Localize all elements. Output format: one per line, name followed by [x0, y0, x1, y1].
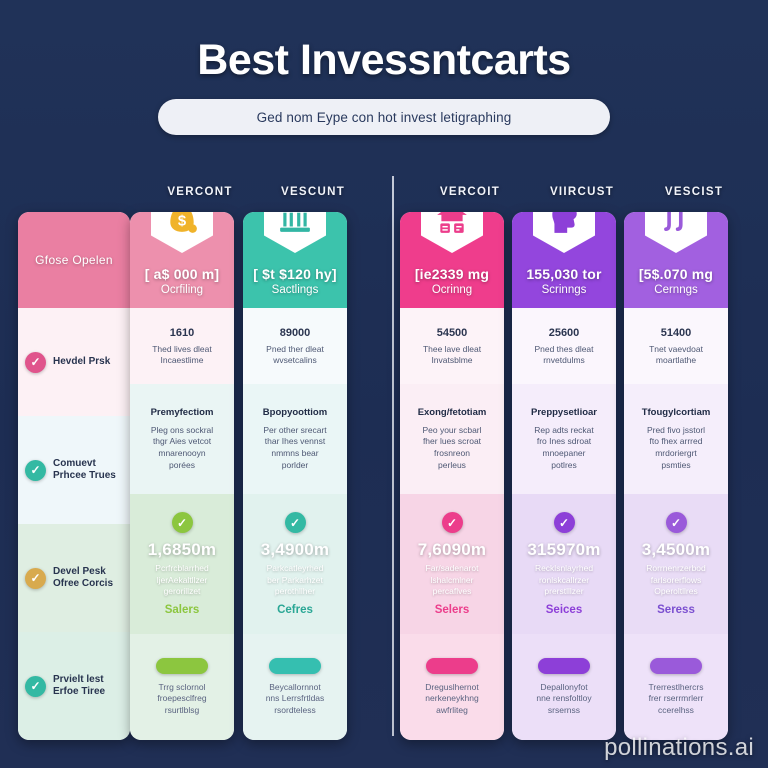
price-subtitle: Ocrfiling [161, 284, 203, 296]
price-subtitle: Sactlings [272, 284, 319, 296]
metric-desc: Pned thes dleatrnvetdulms [534, 344, 593, 366]
double-curve-icon [645, 212, 707, 253]
feature-band: Bpopyoottiom Per other srecartthar Ihes … [243, 384, 347, 494]
label-row-text: Comuevt Prhcee Trues [53, 458, 123, 482]
label-column: Gfose Opelen ✓ Hevdel Prsk ✓ Comuevt Prh… [18, 212, 130, 740]
label-row-4[interactable]: ✓ Prvielt lest Erfoe Tiree [18, 632, 130, 740]
feature-title: Exong/fetotiam [418, 407, 487, 418]
label-row-text: Prvielt lest Erfoe Tiree [53, 674, 123, 698]
metric-desc: Tnet vaevdoatmoartlathe [649, 344, 703, 366]
metric-value: 25600 [549, 327, 580, 339]
action-desc: Dreguslhernotnerkeneykhngawfrliteg [425, 682, 478, 716]
action-desc: Depallonyfotnne rensfoltloysrsernss [536, 682, 591, 716]
returns-desc: RorrnenrzerbodfarlsorerflowsOperoltllres [646, 563, 706, 597]
action-button[interactable] [426, 658, 478, 674]
feature-title: Premyfectiom [151, 407, 214, 418]
column-header-5: VESCIST [642, 186, 746, 198]
returns-band: ✓ 3,4500m RorrnenrzerbodfarlsorerflowsOp… [624, 494, 728, 634]
action-button[interactable] [156, 658, 208, 674]
column-header-4: VIIRCUST [530, 186, 634, 198]
price-subtitle: Scrinngs [542, 284, 587, 296]
price-band: 155,030 tor Scrinngs [512, 212, 616, 308]
returns-band: ✓ 315970m Recklsnlayrhedronlskcallrzerpr… [512, 494, 616, 634]
returns-value: 7,6090m [418, 540, 487, 560]
check-icon: ✓ [25, 568, 46, 589]
returns-value: 1,6850m [148, 540, 217, 560]
check-icon: ✓ [442, 512, 463, 533]
returns-desc: Recklsnlayrhedronlskcallrzerprerstlllzer [535, 563, 593, 597]
feature-title: Bpopyoottiom [263, 407, 327, 418]
label-row-3[interactable]: ✓ Devel Pesk Ofree Corcis [18, 524, 130, 632]
label-row-text: Hevdel Prsk [53, 356, 110, 368]
metric-desc: Thed lives dleatIncaestlime [152, 344, 212, 366]
feature-title: Preppysetlioar [531, 407, 597, 418]
plan-card-2[interactable]: [ $t $120 hy] Sactlings 89000 Pned ther … [243, 212, 347, 740]
action-band: Depallonyfotnne rensfoltloysrsernss [512, 634, 616, 740]
metric-desc: Thee lave dleatInvatsblme [423, 344, 481, 366]
feature-desc: Per other srecartthar Ihes vennstnmmns b… [263, 425, 326, 472]
price-band: $ [ a$ 000 m] Ocrfiling [130, 212, 234, 308]
check-icon: ✓ [285, 512, 306, 533]
returns-band: ✓ 3,4900m Parkcatleyrhedber Parkarhzetpe… [243, 494, 347, 634]
check-icon: ✓ [25, 676, 46, 697]
price-amount: [ a$ 000 m] [145, 266, 220, 282]
metric-desc: Pned ther dleatwvsetcalins [266, 344, 324, 366]
returns-band: ✓ 7,6090m Far/sadenarotlshalcmlnerpercaf… [400, 494, 504, 634]
action-desc: Beycallornnotnns Lerrsfrtldasrsordteless [266, 682, 325, 716]
house-icon [421, 212, 483, 253]
money-bag-icon: $ [151, 212, 213, 253]
feature-desc: Peo your scbarlfher lues scroatfrosnreon… [422, 425, 481, 472]
returns-desc: Parkcatleyrhedber Parkarhzetperothllher [267, 563, 324, 597]
action-desc: Trerrestlhercrsfrer rserrmrlerrccerelhss [649, 682, 704, 716]
price-band: [ $t $120 hy] Sactlings [243, 212, 347, 308]
comparison-grid: Gfose Opelen ✓ Hevdel Prsk ✓ Comuevt Prh… [18, 212, 750, 740]
returns-value: 315970m [527, 540, 600, 560]
metric-value: 51400 [661, 327, 692, 339]
feature-desc: Rep adts reckatfro Ines sdroatmnoepanerp… [534, 425, 594, 472]
plan-card-4[interactable]: 155,030 tor Scrinngs 25600 Pned thes dle… [512, 212, 616, 740]
head-profile-icon [533, 212, 595, 253]
subtitle-text: Ged nom Eype con hot invest letigraphing [257, 110, 512, 125]
metric-value: 54500 [437, 327, 468, 339]
price-amount: 155,030 tor [526, 266, 601, 282]
returns-tag: Salers [165, 604, 200, 616]
price-amount: [ie2339 mg [415, 266, 489, 282]
feature-band: Exong/fetotiam Peo your scbarlfher lues … [400, 384, 504, 494]
label-row-1[interactable]: ✓ Hevdel Prsk [18, 308, 130, 416]
feature-desc: Pleg ons sockralthgr Aies vetcotmnarenoo… [151, 425, 213, 472]
label-column-header: Gfose Opelen [18, 212, 130, 308]
returns-desc: PcrfrcblarrhedljerAekaltllzergerorillzet [155, 563, 208, 597]
action-band: Dreguslhernotnerkeneykhngawfrliteg [400, 634, 504, 740]
check-icon: ✓ [25, 352, 46, 373]
returns-tag: Selers [435, 604, 470, 616]
returns-value: 3,4500m [642, 540, 711, 560]
column-header-row: VERCONTVESCUNTVERCOITVIIRCUSTVESCIST [148, 186, 750, 206]
metric-value: 89000 [280, 327, 311, 339]
feature-band: Preppysetlioar Rep adts reckatfro Ines s… [512, 384, 616, 494]
returns-desc: Far/sadenarotlshalcmlnerpercaflves [426, 563, 479, 597]
column-header-2: VESCUNT [261, 186, 365, 198]
price-subtitle: Cernngs [654, 284, 697, 296]
price-band: [ie2339 mg Ocrinng [400, 212, 504, 308]
feature-band: Tfougylcortiam Pred fivo jsstorlfto fhex… [624, 384, 728, 494]
subtitle-pill: Ged nom Eype con hot invest letigraphing [158, 99, 610, 135]
infographic-page: Best Invessntcarts Ged nom Eype con hot … [0, 0, 768, 768]
metric-band: 25600 Pned thes dleatrnvetdulms [512, 308, 616, 384]
metric-band: 1610 Thed lives dleatIncaestlime [130, 308, 234, 384]
price-amount: [5$.070 mg [639, 266, 713, 282]
action-button[interactable] [650, 658, 702, 674]
metric-band: 54500 Thee lave dleatInvatsblme [400, 308, 504, 384]
feature-title: Tfougylcortiam [642, 407, 711, 418]
bank-icon [264, 212, 326, 253]
metric-value: 1610 [170, 327, 194, 339]
svg-text:$: $ [178, 213, 187, 229]
column-header-1: VERCONT [148, 186, 252, 198]
returns-band: ✓ 1,6850m PcrfrcblarrhedljerAekaltllzerg… [130, 494, 234, 634]
label-row-text: Devel Pesk Ofree Corcis [53, 566, 123, 590]
header: Best Invessntcarts Ged nom Eype con hot … [0, 36, 768, 135]
check-icon: ✓ [25, 460, 46, 481]
plan-card-5[interactable]: [5$.070 mg Cernngs 51400 Tnet vaevdoatmo… [624, 212, 728, 740]
label-row-2[interactable]: ✓ Comuevt Prhcee Trues [18, 416, 130, 524]
plan-card-1[interactable]: $ [ a$ 000 m] Ocrfiling 1610 Thed lives … [130, 212, 234, 740]
action-band: Trrg sclornolfroepesclfregrsurtlblsg [130, 634, 234, 740]
price-band: [5$.070 mg Cernngs [624, 212, 728, 308]
action-desc: Trrg sclornolfroepesclfregrsurtlblsg [157, 682, 206, 716]
check-icon: ✓ [666, 512, 687, 533]
price-subtitle: Ocrinng [432, 284, 472, 296]
page-title: Best Invessntcarts [0, 36, 768, 85]
returns-tag: Cefres [277, 604, 313, 616]
action-button[interactable] [269, 658, 321, 674]
plan-card-3[interactable]: [ie2339 mg Ocrinng 54500 Thee lave dleat… [400, 212, 504, 740]
action-band: Beycallornnotnns Lerrsfrtldasrsordteless [243, 634, 347, 740]
feature-desc: Pred fivo jsstorlfto fhex arrredmrdorier… [647, 425, 705, 472]
returns-value: 3,4900m [261, 540, 330, 560]
check-icon: ✓ [554, 512, 575, 533]
check-icon: ✓ [172, 512, 193, 533]
returns-tag: Seices [546, 604, 582, 616]
action-band: Trerrestlhercrsfrer rserrmrlerrccerelhss [624, 634, 728, 740]
action-button[interactable] [538, 658, 590, 674]
returns-tag: Seress [657, 604, 695, 616]
feature-band: Premyfectiom Pleg ons sockralthgr Aies v… [130, 384, 234, 494]
column-header-3: VERCOIT [418, 186, 522, 198]
metric-band: 89000 Pned ther dleatwvsetcalins [243, 308, 347, 384]
watermark: pollinations.ai [604, 734, 754, 762]
price-amount: [ $t $120 hy] [253, 266, 337, 282]
metric-band: 51400 Tnet vaevdoatmoartlathe [624, 308, 728, 384]
